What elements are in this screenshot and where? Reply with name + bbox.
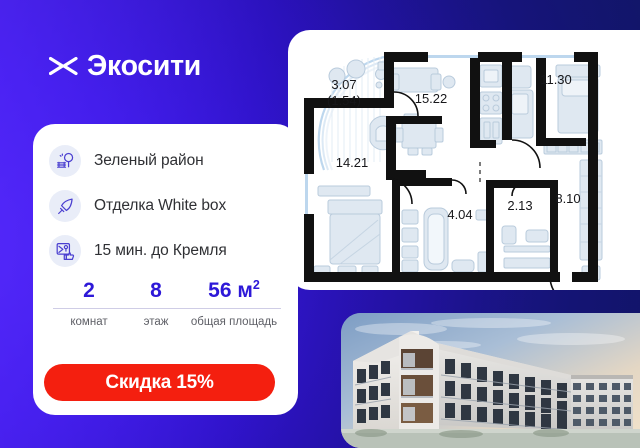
room-area-balcony: 3.07 <box>331 77 356 92</box>
stat-value-rooms: 2 <box>53 280 125 301</box>
stats-block: 2 8 56 м2 комнат этаж общая площадь <box>53 279 281 329</box>
room-area-bedroom: 11.30 <box>540 72 572 87</box>
stat-label-area: общая площадь <box>187 315 281 329</box>
building-photo <box>341 313 640 448</box>
feature-label: 15 мин. до Кремля <box>94 242 227 260</box>
stat-label-floor: этаж <box>125 315 187 329</box>
stat-value-floor: 8 <box>125 280 187 301</box>
room-area-bathroom: 4.04 <box>447 207 472 222</box>
stat-value-area: 56 м2 <box>187 279 281 301</box>
park-tree-bench-icon <box>49 145 81 177</box>
brand-name: Экосити <box>87 52 201 81</box>
floorplan-card: 3.07 (1.54) 15.22 11.30 14.21 4.04 2.13 … <box>288 30 640 290</box>
discount-button[interactable]: Скидка 15% <box>44 364 275 401</box>
features-list: Зеленый район Отделка White box <box>49 141 291 276</box>
floorplan-drawing: 3.07 (1.54) 15.22 11.30 14.21 4.04 2.13 … <box>288 30 640 290</box>
feature-item-kremlin-distance: 15 мин. до Кремля <box>49 231 291 271</box>
feature-item-green-district: Зеленый район <box>49 141 291 181</box>
room-area-living-room: 15.22 <box>415 91 448 106</box>
room-area-kitchen-hall: 8.10 <box>555 191 580 206</box>
stats-labels-row: комнат этаж общая площадь <box>53 309 281 329</box>
building-render-image <box>341 313 640 448</box>
map-location-thumbsup-icon <box>49 235 81 267</box>
brand-logo[interactable]: Экосити <box>49 52 201 81</box>
room-area-balcony-secondary: (1.54) <box>327 93 361 108</box>
room-area-wc: 2.13 <box>507 198 532 213</box>
stat-label-rooms: комнат <box>53 315 125 329</box>
x-mark-logo-icon <box>49 54 78 78</box>
promo-banner: Экосити Зеленый район <box>0 0 640 448</box>
stats-values-row: 2 8 56 м2 <box>53 279 281 308</box>
trowel-finishing-icon <box>49 190 81 222</box>
feature-item-white-box: Отделка White box <box>49 186 291 226</box>
feature-label: Зеленый район <box>94 152 204 170</box>
room-area-second-room: 14.21 <box>336 155 369 170</box>
feature-label: Отделка White box <box>94 197 226 215</box>
